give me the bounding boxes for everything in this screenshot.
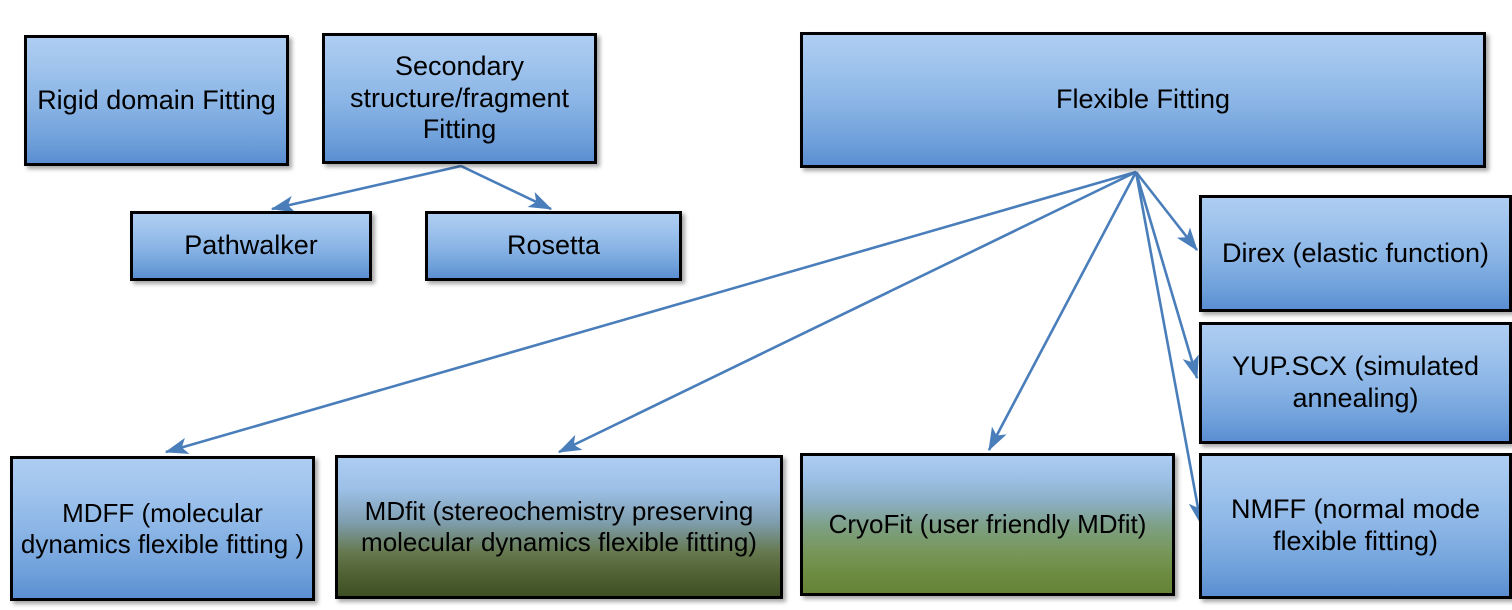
node-flexible-fitting[interactable]: Flexible Fitting: [800, 32, 1486, 168]
secondary-to-rosetta: [461, 166, 551, 209]
node-label: MDFF (molecular dynamics flexible fittin…: [13, 498, 312, 559]
diagram-canvas: Rigid domain Fitting Secondary structure…: [0, 0, 1512, 610]
node-label: Rosetta: [428, 230, 679, 262]
node-label: MDfit (stereochemistry preserving molecu…: [338, 496, 780, 557]
node-label: Pathwalker: [133, 230, 369, 262]
node-rosetta[interactable]: Rosetta: [425, 211, 682, 281]
secondary-to-pathwalker: [272, 166, 461, 209]
node-label: Flexible Fitting: [803, 84, 1483, 116]
node-label: NMFF (normal mode flexible fitting): [1202, 494, 1509, 558]
flexible-to-direx: [1136, 172, 1197, 250]
flexible-to-cryofit: [989, 172, 1136, 450]
node-mdfit[interactable]: MDfit (stereochemistry preserving molecu…: [335, 455, 783, 599]
node-label: CryoFit (user friendly MDfit): [803, 509, 1172, 540]
node-cryofit[interactable]: CryoFit (user friendly MDfit): [800, 453, 1175, 596]
node-pathwalker[interactable]: Pathwalker: [130, 211, 372, 281]
node-label: YUP.SCX (simulated annealing): [1202, 351, 1509, 415]
node-label: Rigid domain Fitting: [27, 85, 286, 117]
node-direx[interactable]: Direx (elastic function): [1199, 195, 1512, 312]
node-mdff[interactable]: MDFF (molecular dynamics flexible fittin…: [10, 456, 315, 601]
node-rigid-domain-fitting[interactable]: Rigid domain Fitting: [24, 35, 289, 166]
node-label: Secondary structure/fragment Fitting: [325, 51, 594, 147]
node-yup-scx[interactable]: YUP.SCX (simulated annealing): [1199, 322, 1512, 444]
node-label: Direx (elastic function): [1202, 238, 1509, 270]
node-nmff[interactable]: NMFF (normal mode flexible fitting): [1199, 453, 1512, 599]
node-secondary-structure-fitting[interactable]: Secondary structure/fragment Fitting: [322, 33, 597, 164]
flexible-to-yupscx: [1136, 172, 1197, 378]
